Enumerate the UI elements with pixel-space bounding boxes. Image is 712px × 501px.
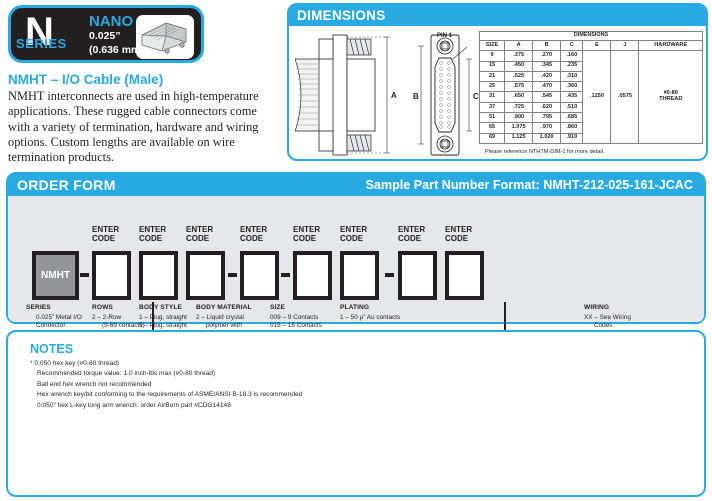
- dim-c: .685: [561, 113, 583, 123]
- order-form-header: ORDER FORM Sample Part Number Format: NM…: [8, 174, 704, 196]
- dim-c: .310: [561, 71, 583, 81]
- connector-photo-icon: [136, 15, 194, 59]
- dim-a: .375: [505, 51, 533, 61]
- dim-size: 31: [480, 92, 505, 102]
- field-label-plating: PLATING: [340, 304, 369, 311]
- dim-hardware: #0-80THREAD: [639, 51, 703, 144]
- dim-c: .860: [561, 123, 583, 133]
- dim-col-c: C: [561, 41, 583, 51]
- enter-code-label: ENTERCODE: [139, 226, 166, 243]
- dim-b: .795: [533, 113, 561, 123]
- dash-separator: [228, 273, 237, 277]
- dim-a: .450: [505, 61, 533, 71]
- dash-separator: [281, 273, 290, 277]
- dim-c: .360: [561, 82, 583, 92]
- enter-code-label: ENTERCODE: [293, 226, 320, 243]
- note-line: * 0.050 hex key (#0-80 thread): [30, 359, 302, 369]
- dimensions-header: DIMENSIONS: [289, 5, 706, 26]
- svg-text:A: A: [391, 91, 397, 100]
- code-input-wiring[interactable]: [445, 251, 484, 300]
- enter-code-label: ENTERCODE: [186, 226, 213, 243]
- code-input-size[interactable]: [240, 251, 279, 300]
- badge-family-label: NANO: [89, 13, 133, 30]
- enter-code-label: ENTERCODE: [340, 226, 367, 243]
- n-series-badge: N SERIES NANO 0.025” (0.636 mm): [8, 5, 204, 63]
- dim-size: 15: [480, 61, 505, 71]
- dim-col-e: E: [583, 41, 611, 51]
- note-line: Ball end hex wrench not recommended: [37, 380, 302, 390]
- field-label-body-style: BODY STYLE: [139, 304, 182, 311]
- dim-col-a: A: [505, 41, 533, 51]
- front-view-drawing: B C: [411, 29, 483, 166]
- dash-separator: [385, 273, 394, 277]
- dim-a: .525: [505, 71, 533, 81]
- note-line: Recommended torque value: 1.0 inch-lbs m…: [37, 369, 302, 379]
- order-form-title: ORDER FORM: [17, 177, 116, 193]
- dim-col-j: J: [611, 41, 639, 51]
- code-input-body-material[interactable]: [186, 251, 225, 300]
- code-input-rows[interactable]: [92, 251, 131, 300]
- sample-part-number: Sample Part Number Format: NMHT-212-025-…: [365, 178, 693, 192]
- dim-b: .345: [533, 61, 561, 71]
- dim-j: .0575: [611, 51, 639, 144]
- dim-size: 37: [480, 102, 505, 112]
- dim-col-hardware: HARDWARE: [639, 41, 703, 51]
- product-description: NMHT interconnects are used in high-temp…: [8, 89, 266, 165]
- field-label-body-material: BODY MATERIAL: [196, 304, 252, 311]
- dim-a: .575: [505, 82, 533, 92]
- side-view-drawing: A: [295, 29, 420, 166]
- order-form-body: NMHT ENTERCODEENTERCODEENTERCODEENTERCOD…: [8, 196, 704, 322]
- enter-code-label: ENTERCODE: [445, 226, 472, 243]
- code-input-body-style[interactable]: [139, 251, 178, 300]
- dim-b: .270: [533, 51, 561, 61]
- dim-b: .545: [533, 92, 561, 102]
- field-values-rows: 2 – 2-Row(9-69 contacts): [92, 314, 145, 330]
- dim-size: 25: [480, 82, 505, 92]
- note-line: 0.050” hex L-key long arm wrench: order …: [37, 401, 302, 411]
- dim-a: .725: [505, 102, 533, 112]
- pin1-label: PIN 1: [437, 33, 452, 39]
- dim-b: 1.020: [533, 133, 561, 143]
- table-row: 9.375.270.160.1250.0575#0-80THREAD: [480, 51, 703, 61]
- dim-b: .970: [533, 123, 561, 133]
- code-input-contact-termination-type[interactable]: [293, 251, 332, 300]
- dim-size: 69: [480, 133, 505, 143]
- note-line: Hex wrench key/bit conforming to the req…: [37, 390, 302, 400]
- dim-c: .160: [561, 51, 583, 61]
- dim-table-title: DIMENSIONS: [480, 32, 703, 41]
- dash-separator: [80, 273, 89, 277]
- enter-code-label: ENTERCODE: [92, 226, 119, 243]
- product-title: NMHT – I/O Cable (Male): [8, 72, 163, 87]
- dim-a: 1.125: [505, 133, 533, 143]
- dim-col-b: B: [533, 41, 561, 51]
- dim-c: .910: [561, 133, 583, 143]
- notes-list: * 0.050 hex key (#0-80 thread)Recommende…: [30, 359, 302, 411]
- svg-text:B: B: [413, 92, 419, 101]
- dimensions-note: Please reference NTHTM-DIM-1 for more de…: [485, 149, 604, 155]
- order-form-panel: ORDER FORM Sample Part Number Format: NM…: [6, 172, 706, 324]
- dim-c: .235: [561, 61, 583, 71]
- dim-size: 21: [480, 71, 505, 81]
- dimensions-table: DIMENSIONSSIZEABCEJHARDWARE9.375.270.160…: [479, 31, 703, 144]
- code-input-plating[interactable]: [340, 251, 379, 300]
- notes-panel: NOTES * 0.050 hex key (#0-80 thread)Reco…: [6, 330, 706, 497]
- dim-c: .435: [561, 92, 583, 102]
- dim-size: 9: [480, 51, 505, 61]
- dim-e: .1250: [583, 51, 611, 144]
- field-label-size: SIZE: [270, 304, 285, 311]
- dim-a: 1.075: [505, 123, 533, 133]
- dim-col-size: SIZE: [480, 41, 505, 51]
- badge-series-label: SERIES: [16, 36, 67, 51]
- enter-code-label: ENTERCODE: [240, 226, 267, 243]
- dim-size: 51: [480, 113, 505, 123]
- part-prefix-box: NMHT: [32, 251, 79, 300]
- field-label-series: SERIES: [26, 304, 51, 311]
- field-label-wiring: WIRING: [584, 304, 609, 311]
- dim-size: 65: [480, 123, 505, 133]
- dim-b: .620: [533, 102, 561, 112]
- notes-title: NOTES: [30, 342, 73, 356]
- dim-b: .420: [533, 71, 561, 81]
- dimensions-panel: DIMENSIONS: [287, 3, 708, 161]
- field-label-rows: ROWS: [92, 304, 113, 311]
- badge-size-inches: 0.025”: [89, 30, 121, 42]
- dim-a: .900: [505, 113, 533, 123]
- enter-code-label: ENTERCODE: [398, 226, 425, 243]
- code-input-hardware[interactable]: [398, 251, 437, 300]
- field-values-plating: 1 – 50 µ” Au contacts: [340, 314, 400, 322]
- field-values-wiring: XX – See WiringCodes: [584, 314, 631, 330]
- dim-c: .510: [561, 102, 583, 112]
- dim-a: .650: [505, 92, 533, 102]
- dim-b: .470: [533, 82, 561, 92]
